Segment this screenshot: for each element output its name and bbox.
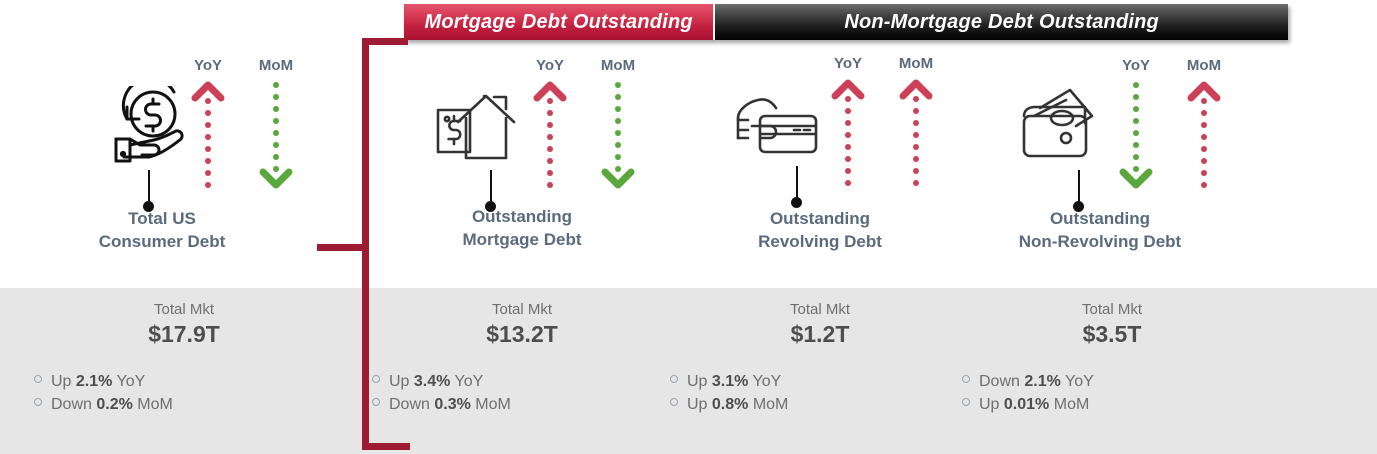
mom-arrow-up-icon — [899, 76, 933, 188]
yoy-label: YoY — [194, 58, 222, 73]
column-total-us-consumer-debt: YoY MoM — [12, 44, 312, 288]
trend-arrows-group: YoY MoM — [825, 56, 939, 188]
list-item: Up 3.1% YoY — [670, 370, 970, 393]
bullet-icon — [962, 375, 970, 383]
yoy-label: YoY — [536, 58, 564, 73]
dashboard-root: Mortgage Debt Outstanding Non-Mortgage D… — [0, 0, 1377, 454]
tab-mortgage-label: Mortgage Debt Outstanding — [424, 11, 692, 34]
mom-indicator: MoM — [1181, 58, 1227, 190]
change-text: Up 0.01% MoM — [979, 393, 1089, 416]
total-mkt-label: Total Mkt — [34, 300, 334, 320]
total-mkt-label: Total Mkt — [670, 300, 970, 320]
column-title-line1: Total US — [12, 208, 312, 231]
bullet-icon — [34, 398, 42, 406]
change-text: Down 0.3% MoM — [389, 393, 511, 416]
stat-block-outstanding-revolving-debt: Total Mkt $1.2T Up 3.1% YoY Up 0.8% MoM — [670, 300, 970, 417]
column-title-line1: Outstanding — [670, 208, 970, 231]
bullet-icon — [372, 398, 380, 406]
wallet-with-cash-icon — [1010, 86, 1116, 170]
change-text: Down 0.2% MoM — [51, 393, 173, 416]
pointer-dot — [791, 197, 802, 208]
stat-block-outstanding-mortgage-debt: Total Mkt $13.2T Up 3.4% YoY Down 0.3% M… — [372, 300, 672, 417]
list-item: Up 0.8% MoM — [670, 393, 970, 416]
trend-arrows-group: YoY MoM — [527, 58, 641, 190]
bullet-icon — [372, 375, 380, 383]
column-title-line2: Mortgage Debt — [372, 229, 672, 252]
change-text: Up 3.4% YoY — [389, 370, 483, 393]
column-title-line2: Non-Revolving Debt — [950, 231, 1250, 254]
change-text: Down 2.1% YoY — [979, 370, 1094, 393]
bullet-icon — [670, 398, 678, 406]
column-title-line1: Outstanding — [372, 206, 672, 229]
column-title-line2: Consumer Debt — [12, 231, 312, 254]
stat-header: Total Mkt $13.2T — [372, 300, 672, 348]
yoy-arrow-up-icon — [191, 78, 225, 190]
bracket-left-stub — [317, 244, 367, 251]
stat-header: Total Mkt $1.2T — [670, 300, 970, 348]
change-text: Up 3.1% YoY — [687, 370, 781, 393]
column-title-line1: Outstanding — [950, 208, 1250, 231]
yoy-arrow-up-icon — [533, 78, 567, 190]
bullet-icon — [34, 375, 42, 383]
column-title: Total US Consumer Debt — [12, 208, 312, 254]
change-text: Up 0.8% MoM — [687, 393, 788, 416]
pointer-stem — [1078, 170, 1080, 204]
bracket-bottom-segment — [362, 443, 410, 450]
total-mkt-value: $17.9T — [34, 320, 334, 349]
mom-arrow-up-icon — [1187, 78, 1221, 190]
total-mkt-value: $3.5T — [962, 320, 1262, 349]
pointer-stem — [796, 166, 798, 200]
trend-arrows-group: YoY MoM — [1113, 58, 1227, 190]
category-tabbar: Mortgage Debt Outstanding Non-Mortgage D… — [404, 4, 1288, 40]
trend-arrows-group: YoY MoM — [185, 58, 299, 190]
pointer-stem — [490, 170, 492, 204]
yoy-arrow-down-icon — [1119, 78, 1153, 190]
yoy-indicator: YoY — [527, 58, 573, 190]
column-title: Outstanding Mortgage Debt — [372, 206, 672, 252]
pointer-stem — [148, 170, 150, 204]
mom-arrow-down-icon — [601, 78, 635, 190]
tab-non-mortgage-debt-outstanding[interactable]: Non-Mortgage Debt Outstanding — [715, 4, 1288, 40]
stat-block-outstanding-non-revolving-debt: Total Mkt $3.5T Down 2.1% YoY Up 0.01% M… — [962, 300, 1262, 417]
mom-indicator: MoM — [253, 58, 299, 190]
tab-mortgage-debt-outstanding[interactable]: Mortgage Debt Outstanding — [404, 4, 715, 40]
list-item: Down 0.3% MoM — [372, 393, 672, 416]
mom-indicator: MoM — [893, 56, 939, 188]
list-item: Down 0.2% MoM — [34, 393, 334, 416]
change-bullet-list: Up 2.1% YoY Down 0.2% MoM — [34, 370, 334, 416]
stat-header: Total Mkt $3.5T — [962, 300, 1262, 348]
yoy-label: YoY — [834, 56, 862, 71]
total-mkt-value: $13.2T — [372, 320, 672, 349]
change-bullet-list: Up 3.4% YoY Down 0.3% MoM — [372, 370, 672, 416]
change-bullet-list: Up 3.1% YoY Up 0.8% MoM — [670, 370, 970, 416]
stat-header: Total Mkt $17.9T — [34, 300, 334, 348]
column-outstanding-non-revolving-debt: YoY MoM — [950, 44, 1250, 288]
bullet-icon — [670, 375, 678, 383]
column-outstanding-mortgage-debt: YoY MoM — [372, 44, 672, 288]
yoy-indicator: YoY — [1113, 58, 1159, 190]
mom-label: MoM — [259, 58, 293, 73]
list-item: Up 3.4% YoY — [372, 370, 672, 393]
yoy-indicator: YoY — [185, 58, 231, 190]
total-mkt-value: $1.2T — [670, 320, 970, 349]
column-title: Outstanding Non-Revolving Debt — [950, 208, 1250, 254]
bullet-icon — [962, 398, 970, 406]
total-mkt-label: Total Mkt — [962, 300, 1262, 320]
mom-label: MoM — [601, 58, 635, 73]
mom-label: MoM — [1187, 58, 1221, 73]
mom-arrow-down-icon — [259, 78, 293, 190]
yoy-label: YoY — [1122, 58, 1150, 73]
mom-label: MoM — [899, 56, 933, 71]
list-item: Down 2.1% YoY — [962, 370, 1262, 393]
column-title: Outstanding Revolving Debt — [670, 208, 970, 254]
list-item: Up 0.01% MoM — [962, 393, 1262, 416]
list-item: Up 2.1% YoY — [34, 370, 334, 393]
change-text: Up 2.1% YoY — [51, 370, 145, 393]
yoy-arrow-up-icon — [831, 76, 865, 188]
yoy-indicator: YoY — [825, 56, 871, 188]
change-bullet-list: Down 2.1% YoY Up 0.01% MoM — [962, 370, 1262, 416]
tab-non-mortgage-label: Non-Mortgage Debt Outstanding — [844, 11, 1159, 34]
column-outstanding-revolving-debt: YoY MoM — [670, 44, 970, 288]
stat-block-total-us-consumer-debt: Total Mkt $17.9T Up 2.1% YoY Down 0.2% M… — [34, 300, 334, 417]
hand-holding-credit-card-icon — [726, 90, 826, 170]
mom-indicator: MoM — [595, 58, 641, 190]
house-with-price-tag-icon — [428, 88, 524, 170]
column-title-line2: Revolving Debt — [670, 231, 970, 254]
total-mkt-label: Total Mkt — [372, 300, 672, 320]
